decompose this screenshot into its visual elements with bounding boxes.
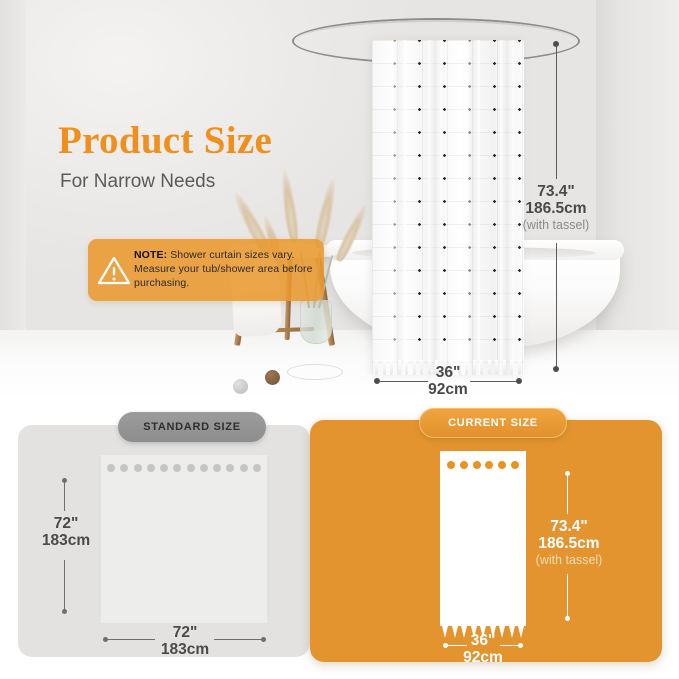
- standard-curtain-illustration: [101, 455, 267, 623]
- curtain-tassel: [518, 360, 521, 375]
- current-height-label: 73.4" 186.5cm (with tassel): [527, 518, 611, 567]
- photo-height-cm: 186.5cm: [496, 200, 616, 217]
- current-height-inches: 73.4": [527, 518, 611, 535]
- current-height-qualifier: (with tassel): [527, 553, 611, 567]
- width-dim-dot-right: [516, 378, 522, 384]
- warning-triangle-icon: [94, 255, 134, 285]
- grommet: [485, 461, 493, 469]
- wall-left: [0, 0, 26, 340]
- grommet: [120, 464, 128, 472]
- decor-ring: [287, 364, 343, 380]
- note-text: NOTE: Shower curtain sizes vary. Measure…: [134, 249, 316, 291]
- cur-height-dot-bottom: [565, 616, 570, 621]
- grommet: [200, 464, 208, 472]
- photo-width-cm: 92cm: [398, 381, 498, 398]
- photo-width-inches: 36": [398, 364, 498, 381]
- grommet: [173, 464, 181, 472]
- page-subtitle: For Narrow Needs: [60, 171, 215, 193]
- photo-height-label: 73.4" 186.5cm (with tassel): [496, 183, 616, 232]
- grommet: [240, 464, 248, 472]
- std-width-line-right: [214, 639, 262, 640]
- std-height-dot-bottom: [62, 609, 67, 614]
- cur-width-dot-right: [518, 643, 523, 648]
- standard-height-inches: 72": [24, 515, 108, 532]
- grommet: [511, 461, 519, 469]
- standard-grommet-row: [107, 463, 261, 473]
- floor: [0, 330, 679, 400]
- std-width-dot-right: [261, 637, 266, 642]
- standard-width-cm: 183cm: [143, 641, 227, 658]
- curtain-tassel: [383, 360, 386, 375]
- product-size-infographic: Product Size For Narrow Needs NOTE: Show…: [0, 0, 679, 679]
- current-curtain-illustration: [440, 451, 526, 626]
- cur-width-line-right: [500, 645, 519, 646]
- grommet: [447, 461, 455, 469]
- standard-width-label: 72" 183cm: [143, 624, 227, 659]
- grommet: [187, 464, 195, 472]
- height-dim-line-lower: [556, 243, 557, 368]
- curtain-tassel: [510, 360, 513, 375]
- pampas-plume-2: [278, 166, 301, 242]
- grommet: [160, 464, 168, 472]
- grommet: [107, 464, 115, 472]
- curtain-tassel: [375, 360, 378, 375]
- curtain-tassel: [390, 360, 393, 375]
- curtain-tassel: [503, 360, 506, 375]
- std-height-line-top: [64, 483, 65, 511]
- current-width-cm: 92cm: [443, 649, 523, 666]
- grommet: [226, 464, 234, 472]
- standard-height-label: 72" 183cm: [24, 515, 108, 550]
- current-width-label: 36" 92cm: [443, 632, 523, 667]
- note-banner: NOTE: Shower curtain sizes vary. Measure…: [88, 239, 324, 301]
- standard-size-badge: STANDARD SIZE: [118, 412, 266, 442]
- grommet: [134, 464, 142, 472]
- curtain-fold-3: [466, 40, 480, 375]
- grommet: [213, 464, 221, 472]
- current-size-badge: CURRENT SIZE: [419, 408, 567, 438]
- height-dim-line: [556, 47, 557, 179]
- grommet: [460, 461, 468, 469]
- glass-vase: [300, 300, 332, 344]
- std-height-line-bottom: [64, 560, 65, 610]
- grommet: [473, 461, 481, 469]
- curtain-fold-1: [392, 40, 406, 375]
- decor-ball-gray: [233, 379, 248, 394]
- curtain-fold-2: [428, 40, 442, 375]
- grommet: [147, 464, 155, 472]
- cur-height-line-top: [567, 476, 568, 514]
- grommet: [253, 464, 261, 472]
- note-label: NOTE:: [134, 249, 167, 261]
- grommet: [498, 461, 506, 469]
- height-dim-dot-bottom: [553, 366, 559, 372]
- current-width-inches: 36": [443, 632, 523, 649]
- page-title: Product Size: [58, 118, 272, 163]
- decor-ball-brown: [265, 370, 280, 385]
- current-height-cm: 186.5cm: [527, 535, 611, 552]
- photo-height-qualifier: (with tassel): [496, 218, 616, 232]
- current-grommet-row: [447, 460, 519, 470]
- width-dim-line-right: [470, 381, 518, 382]
- standard-height-cm: 183cm: [24, 532, 108, 549]
- cur-height-line-bottom: [567, 574, 568, 618]
- photo-height-inches: 73.4": [496, 183, 616, 200]
